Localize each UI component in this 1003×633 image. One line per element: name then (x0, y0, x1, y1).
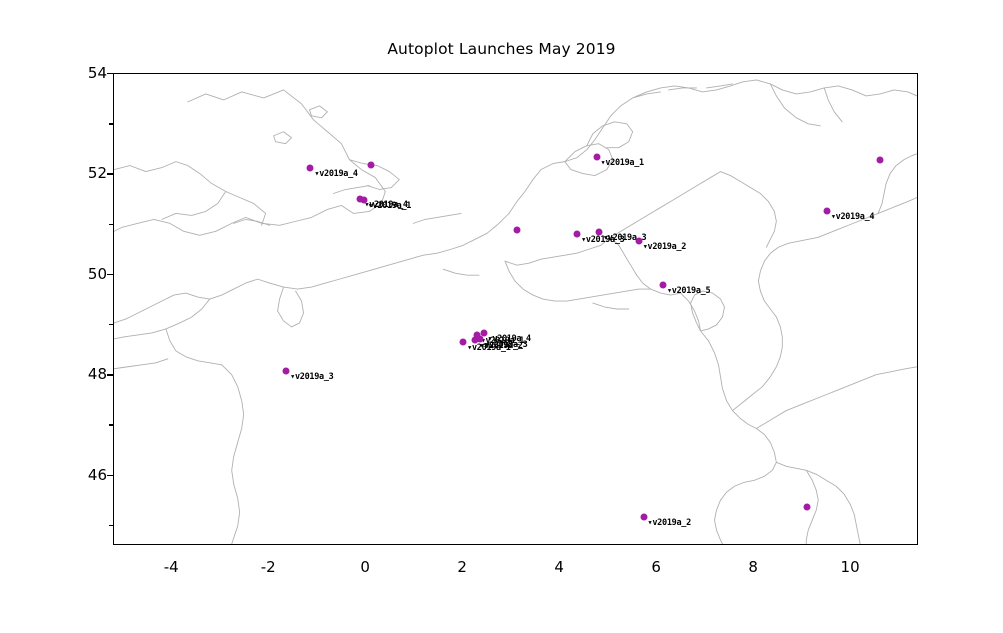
data-point-marker (368, 162, 375, 169)
data-point-marker (307, 165, 314, 172)
data-point-marker (877, 157, 884, 164)
x-tick-label: -4 (164, 558, 179, 576)
data-point-label: ▾v2019a_4 (831, 212, 874, 222)
plot-area: ▾v2019a_4▾v2019a_4▾v2019a_1▾v2019a_1▾v20… (113, 73, 918, 545)
x-tick-label: -2 (261, 558, 276, 576)
y-tick-label: 46 (88, 466, 107, 484)
data-point-marker (659, 281, 666, 288)
x-tick-label: 8 (748, 558, 758, 576)
data-point-marker (640, 513, 647, 520)
y-tick-label: 52 (88, 164, 107, 182)
data-point-marker (472, 337, 479, 344)
map-coastlines (114, 74, 917, 544)
y-tick-label: 48 (88, 365, 107, 383)
x-tick-label: 0 (360, 558, 370, 576)
data-point-marker (595, 229, 602, 236)
x-tick-label: 4 (554, 558, 564, 576)
data-point-label: ▾v2019a_4 (314, 169, 357, 179)
data-point-marker (480, 329, 487, 336)
data-point-marker (574, 230, 581, 237)
data-point-marker (804, 503, 811, 510)
data-point-label: ▾v2019a_2 (643, 242, 686, 252)
data-point-marker (823, 207, 830, 214)
data-point-marker (283, 368, 290, 375)
chart-title: Autoplot Launches May 2019 (0, 40, 1003, 58)
figure-canvas: Autoplot Launches May 2019 4648505254 -4… (0, 0, 1003, 633)
data-point-marker (460, 339, 467, 346)
x-axis-tick-labels: -4-20246810 (113, 558, 918, 580)
x-tick-label: 2 (457, 558, 467, 576)
x-tick-label: 10 (841, 558, 860, 576)
data-point-marker (360, 196, 367, 203)
y-tick-label: 50 (88, 265, 107, 283)
data-point-label: ▾v2019a_2 (479, 341, 522, 351)
x-tick-label: 6 (651, 558, 661, 576)
data-point-label: ▾v2019a_1 (601, 158, 644, 168)
data-point-marker (593, 153, 600, 160)
data-point-marker (635, 237, 642, 244)
y-tick-label: 54 (88, 64, 107, 82)
data-point-label: ▾v2019a_2 (648, 518, 691, 528)
data-point-label: ▾v2019a_1 (368, 201, 411, 211)
data-point-label: ▾v2019a_3 (290, 372, 333, 382)
data-point-label: ▾v2019a_5 (667, 286, 710, 296)
y-axis-tick-labels: 4648505254 (55, 73, 107, 545)
data-point-marker (513, 226, 520, 233)
